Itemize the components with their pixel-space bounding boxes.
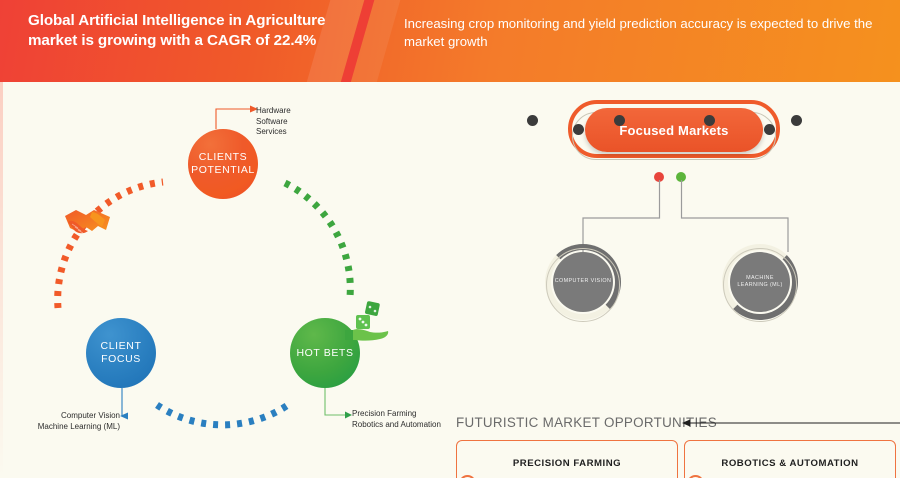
robotics-automation-label: ROBOTICS & AUTOMATION: [721, 458, 858, 469]
computer-vision-circle[interactable]: COMPUTER VISION: [545, 244, 621, 320]
computer-vision-dot-left: [527, 115, 538, 126]
node-client-focus[interactable]: CLIENT FOCUS: [86, 318, 156, 388]
callout-line: Services: [256, 127, 352, 138]
opportunities-arrow: [680, 417, 900, 433]
callout-line: Precision Farming: [352, 409, 472, 420]
callout-line: Robotics and Automation: [352, 420, 472, 431]
callout-line: Machine Learning (ML): [12, 422, 120, 433]
handshake-icon: [62, 200, 114, 242]
computer-vision-label: COMPUTER VISION: [555, 278, 612, 286]
node-clients-potential-label: CLIENTS POTENTIAL: [188, 151, 258, 177]
node-clients-potential[interactable]: CLIENTS POTENTIAL: [188, 129, 258, 199]
callout-line: Computer Vision: [12, 411, 120, 422]
focused-markets-dot-right: [764, 124, 775, 135]
circle-core: COMPUTER VISION: [553, 252, 613, 312]
circle-core: MACHINE LEARNING (ML): [730, 252, 790, 312]
money-hand-icon: [344, 300, 392, 344]
header-subtitle: Increasing crop monitoring and yield pre…: [404, 15, 874, 51]
machine-learning-dot-left: [704, 115, 715, 126]
machine-learning-dot-right: [791, 115, 802, 126]
opportunities-title: FUTURISTIC MARKET OPPORTUNITIES: [456, 415, 717, 430]
node-client-focus-label: CLIENT FOCUS: [86, 340, 156, 366]
precision-farming-label: PRECISION FARMING: [513, 458, 621, 469]
focused-markets-header[interactable]: Focused Markets: [568, 100, 780, 162]
callout-hot-bets: Precision Farming Robotics and Automatio…: [352, 409, 472, 430]
callout-line: Software: [256, 117, 352, 128]
focused-markets-pill[interactable]: Focused Markets: [585, 108, 763, 152]
machine-learning-label: MACHINE LEARNING (ML): [730, 275, 790, 290]
header-title: Global Artificial Intelligence in Agricu…: [28, 11, 328, 50]
machine-learning-circle[interactable]: MACHINE LEARNING (ML): [722, 244, 798, 320]
focused-markets-dot-left: [573, 124, 584, 135]
header-banner: Global Artificial Intelligence in Agricu…: [0, 0, 900, 82]
precision-farming-box[interactable]: PRECISION FARMING: [456, 440, 678, 478]
infographic-page: Global Artificial Intelligence in Agricu…: [0, 0, 900, 478]
callout-client-focus: Computer Vision Machine Learning (ML): [12, 411, 120, 432]
robotics-automation-box[interactable]: ROBOTICS & AUTOMATION: [684, 440, 896, 478]
diagram-canvas: CLIENTS POTENTIAL CLIENT FOCUS HOT BETS …: [0, 82, 900, 478]
callout-clients-potential: Hardware Software Services: [256, 106, 352, 138]
callout-line: Hardware: [256, 106, 352, 117]
computer-vision-dot-right: [614, 115, 625, 126]
node-hot-bets-label: HOT BETS: [296, 347, 353, 360]
